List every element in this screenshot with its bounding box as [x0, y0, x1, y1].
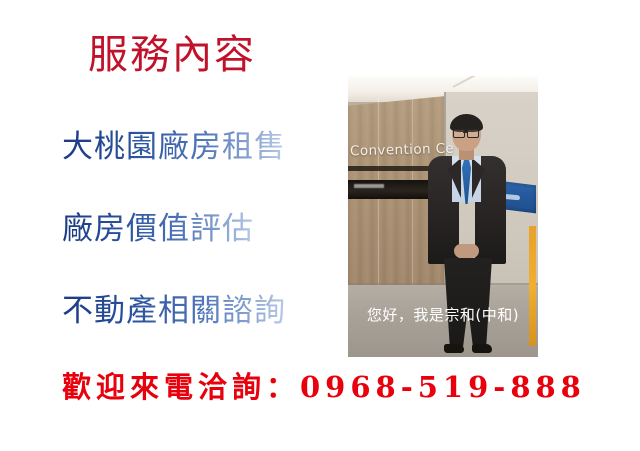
page-title: 服務內容: [88, 32, 256, 78]
service-item-1: 大桃園廠房租售: [62, 130, 286, 164]
service-item-2: 廠房價值評估: [62, 212, 254, 246]
presentation-slide: 服務內容 大桃園廠房租售 廠房價值評估 不動產相關諮詢 歡迎來電洽詢：0968-…: [0, 0, 640, 451]
glasses-bridge: [463, 132, 467, 133]
service-item-3: 不動產相關諮詢: [62, 294, 286, 328]
accent-strip: [529, 226, 536, 346]
signage-highlight: [354, 184, 384, 188]
contact-phone-line: 歡迎來電洽詢：0968-519-888: [62, 372, 586, 404]
clasped-hands: [454, 244, 479, 258]
profile-photo: Convention Ce: [348, 76, 538, 357]
photo-caption: 您好，我是宗和(中和): [348, 304, 538, 325]
glasses-icon: [467, 129, 479, 138]
shoe-right: [472, 344, 492, 353]
trousers: [444, 258, 492, 346]
glasses-icon: [453, 129, 465, 138]
shoe-left: [444, 344, 464, 353]
